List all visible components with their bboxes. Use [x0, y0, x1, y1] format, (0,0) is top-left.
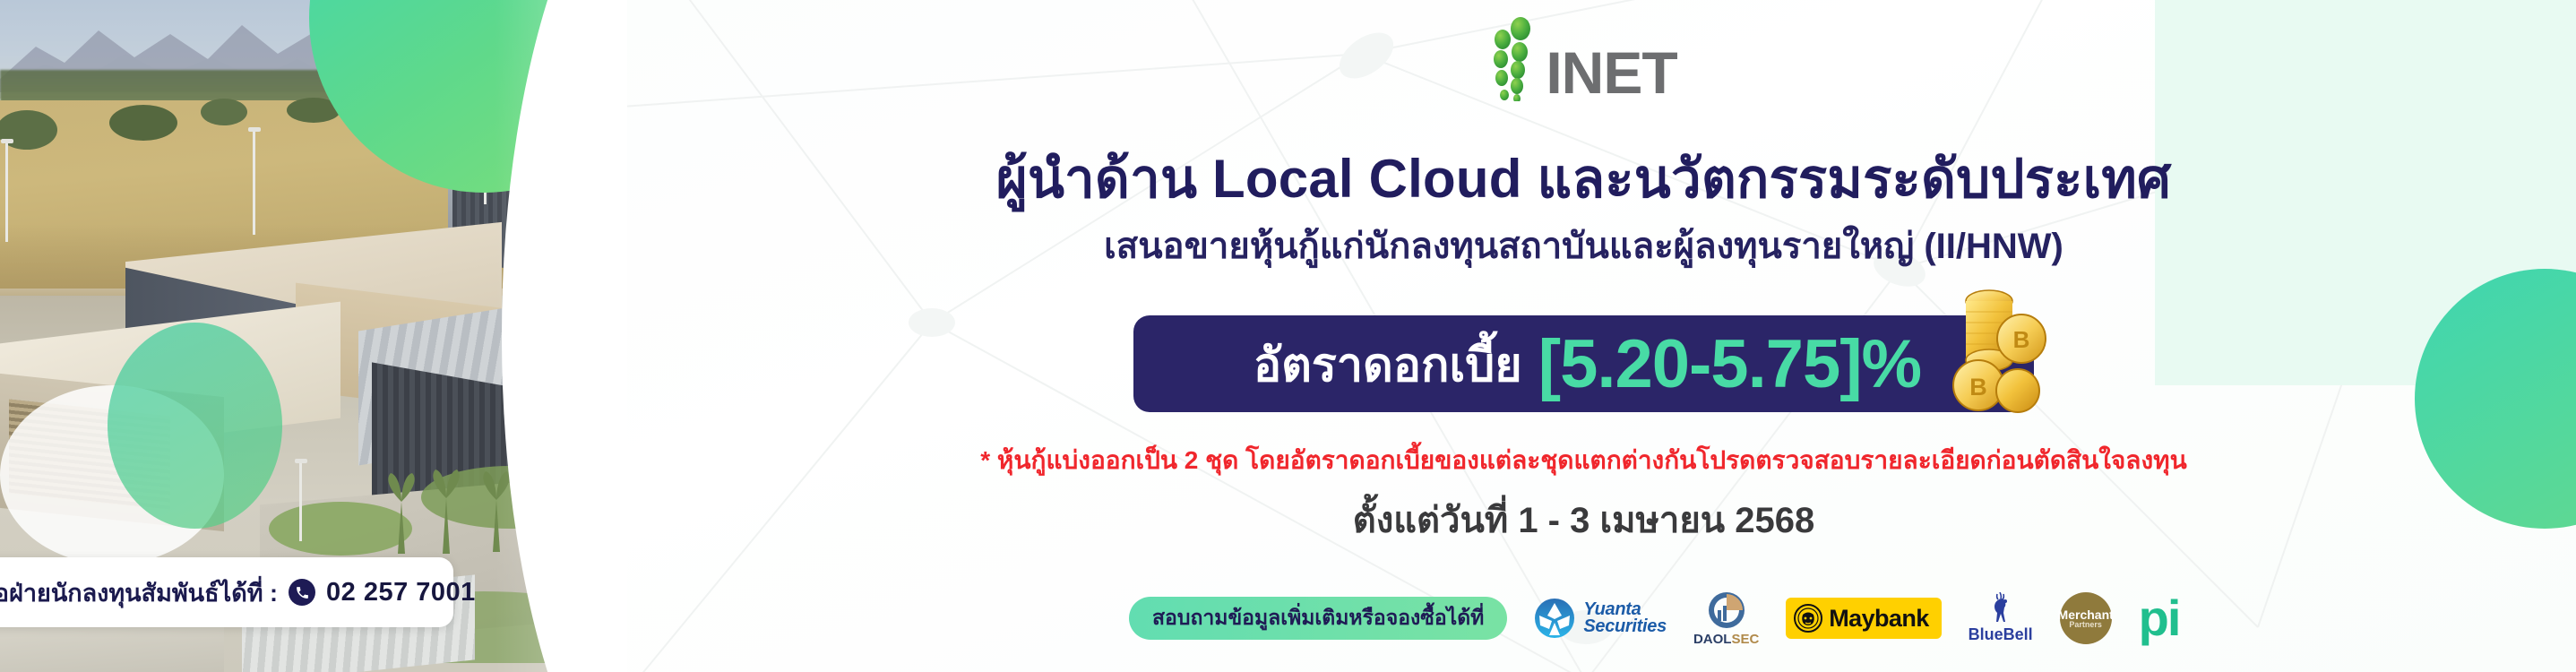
- investor-relations-contact-card[interactable]: ติดต่อฝ่ายนักลงทุนสัมพันธ์ได้ที่ : 02 25…: [0, 557, 453, 627]
- yuanta-star-icon: [1534, 598, 1575, 639]
- partner-logo-yuanta-securities[interactable]: Yuanta Securities: [1534, 598, 1667, 639]
- partner-logo-merchant-partners[interactable]: Merchant Partners: [2060, 592, 2112, 644]
- phone-icon: [289, 579, 315, 606]
- contact-label: ติดต่อฝ่ายนักลงทุนสัมพันธ์ได้ที่ :: [0, 573, 278, 612]
- interest-rate-box: อัตราดอกเบี้ย [5.20-5.75]%: [1133, 315, 2034, 412]
- svg-text:B: B: [2013, 326, 2030, 353]
- bluebell-wordmark: BlueBell: [1969, 625, 2033, 644]
- interest-rate-section: อัตราดอกเบี้ย [5.20-5.75]%: [591, 315, 2576, 412]
- svg-text:B: B: [1969, 374, 1987, 401]
- partner-logo-maybank[interactable]: Maybank: [1786, 598, 1941, 639]
- yuanta-line2: Securities: [1583, 618, 1667, 635]
- interest-rate-label: อัตราดอกเบี้ย: [1254, 327, 1522, 401]
- daol-circle-icon: [1707, 590, 1746, 630]
- maybank-tiger-icon: [1794, 604, 1822, 633]
- merchant-circle-icon: Merchant Partners: [2060, 592, 2112, 644]
- gold-coins-icon: B B: [1943, 285, 2050, 419]
- page-title: ผู้นำด้าน Local Cloud และนวัตกรรมระดับปร…: [591, 136, 2576, 221]
- inet-bond-offering-banner: ติดต่อฝ่ายนักลงทุนสัมพันธ์ได้ที่ : 02 25…: [0, 0, 2576, 672]
- partner-logo-bluebell[interactable]: BlueBell: [1969, 592, 2033, 644]
- content-column: INET ผู้นำด้าน Local Cloud และนวัตกรรมระ…: [591, 0, 2576, 672]
- maybank-wordmark: Maybank: [1829, 605, 1928, 633]
- pi-wordmark-icon: pi: [2139, 599, 2180, 639]
- interest-rate-value: [5.20-5.75]%: [1538, 325, 1921, 403]
- disclaimer-text: * หุ้นกู้แบ่งออกเป็น 2 ชุด โดยอัตราดอกเบ…: [591, 441, 2576, 480]
- subtitle: เสนอขายหุ้นกู้แก่นักลงทุนสถาบันและผู้ลงท…: [591, 217, 2576, 274]
- cta-button[interactable]: สอบถามข้อมูลเพิ่มเติมหรือจองซื้อได้ที่: [1129, 597, 1507, 640]
- daol-word2: SEC: [1731, 632, 1759, 647]
- logo-row: INET: [591, 16, 2576, 101]
- contact-phone-number: 02 257 7001: [326, 578, 476, 607]
- partner-logo-daol-sec[interactable]: DAOLSEC: [1693, 590, 1759, 647]
- partner-logo-pi-securities[interactable]: pi: [2139, 599, 2180, 639]
- inet-logo[interactable]: INET: [1490, 16, 1676, 101]
- partner-bar: สอบถามข้อมูลเพิ่มเติมหรือจองซื้อได้ที่: [591, 582, 2576, 654]
- green-circle-mid-decoration: [108, 323, 282, 529]
- offer-period-text: ตั้งแต่วันที่ 1 - 3 เมษายน 2568: [591, 491, 2576, 548]
- inet-wordmark: INET: [1546, 45, 1676, 101]
- daol-word1: DAOL: [1693, 632, 1732, 647]
- bluebell-deer-icon: [1986, 592, 2016, 625]
- merchant-line2: Partners: [2069, 621, 2102, 629]
- green-dots-icon: [1490, 16, 1540, 101]
- merchant-line1: Merchant: [2058, 608, 2114, 621]
